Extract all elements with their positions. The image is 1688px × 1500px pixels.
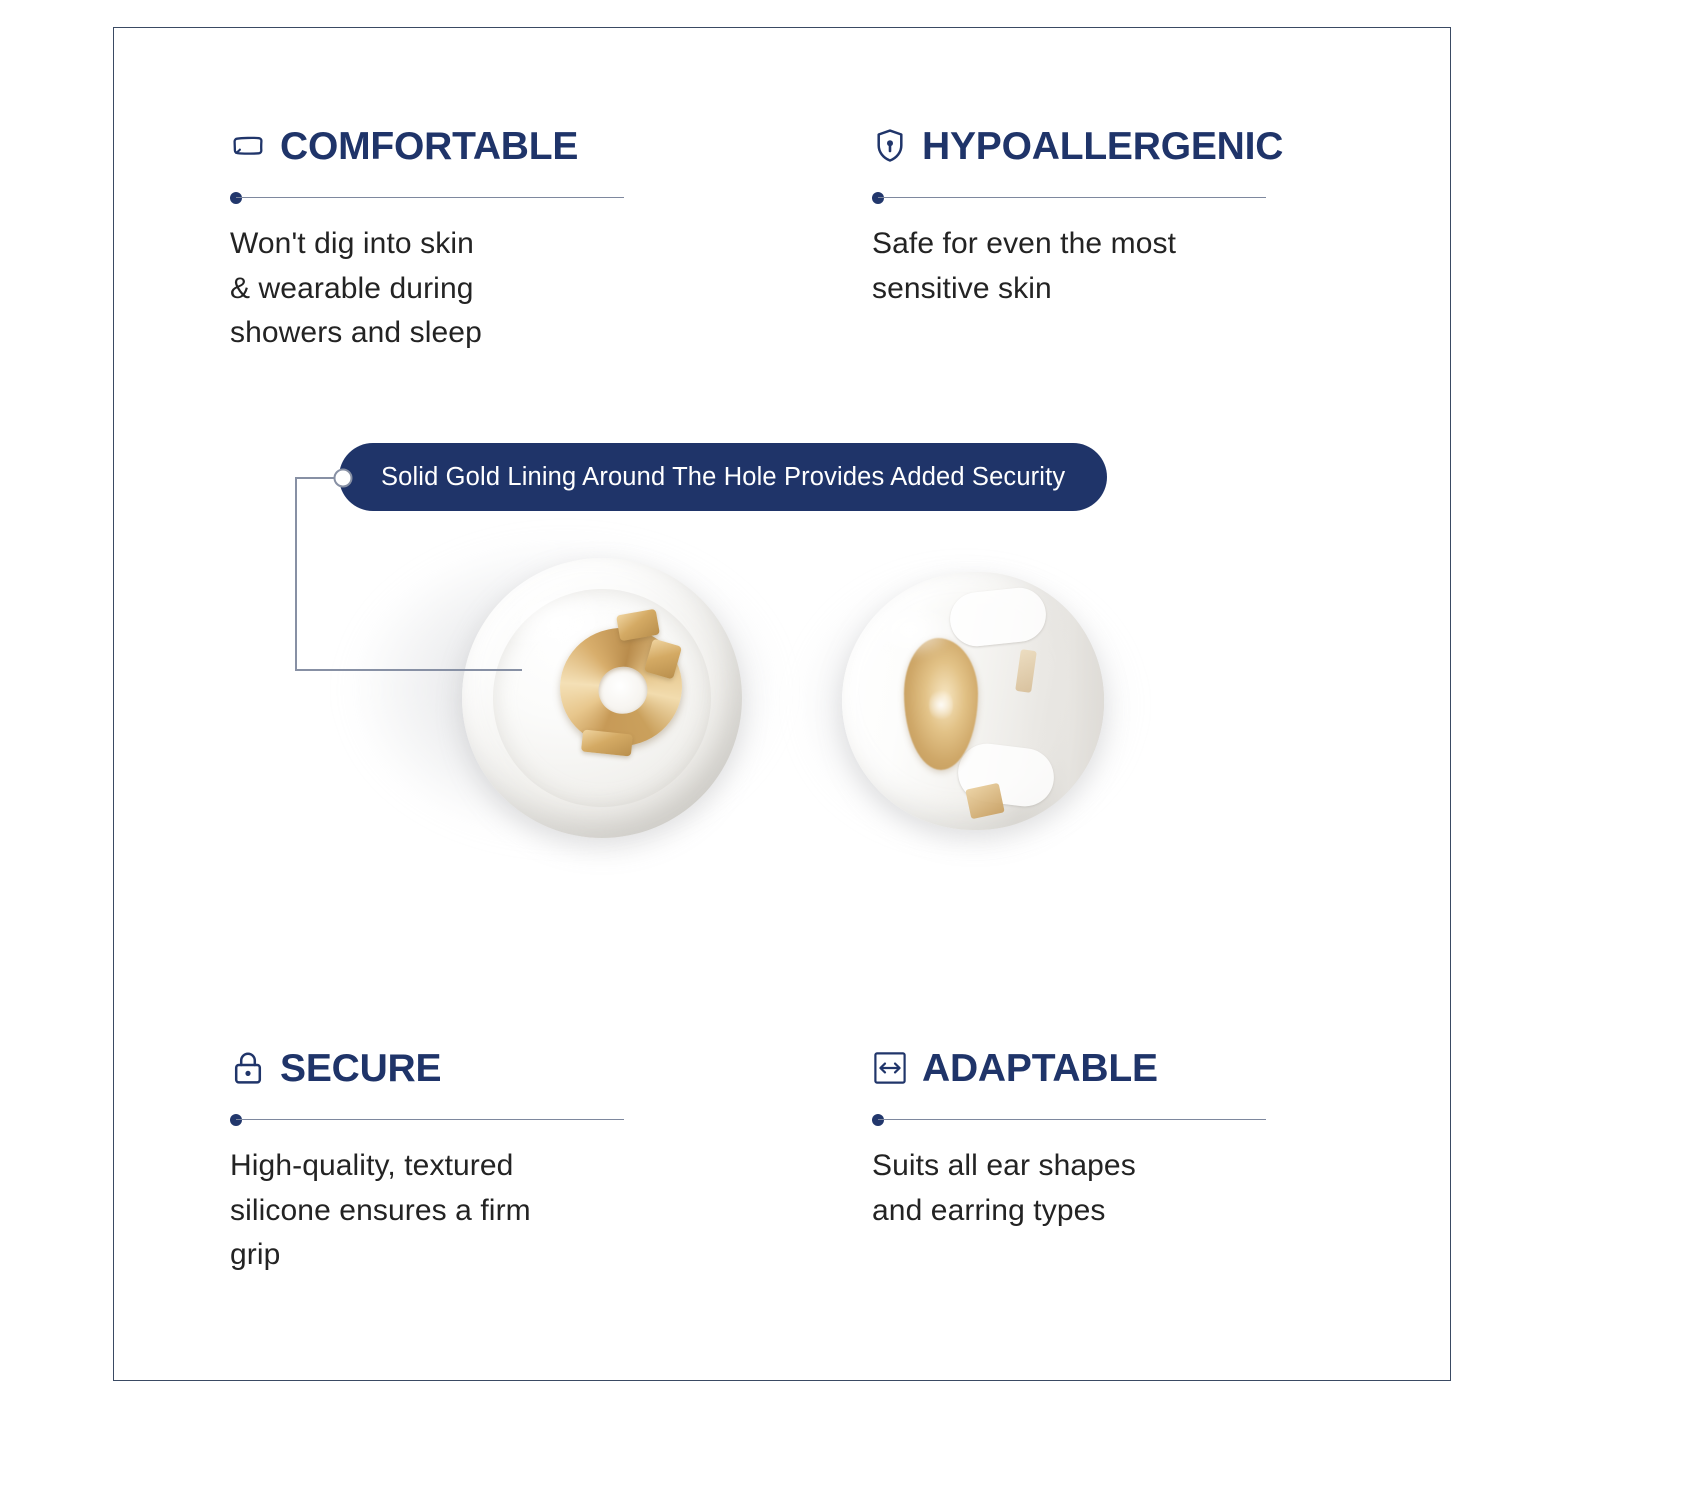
feature-divider xyxy=(872,192,1266,204)
divider-dot xyxy=(872,1114,884,1126)
feature-header: SECURE xyxy=(230,1042,630,1094)
description-line: & wearable during xyxy=(230,267,630,312)
feature-title: ADAPTABLE xyxy=(922,1049,1158,1088)
callout-badge: Solid Gold Lining Around The Hole Provid… xyxy=(339,443,1107,511)
pillow-icon xyxy=(230,128,266,164)
feature-divider xyxy=(230,1114,624,1126)
feature-adaptable: ADAPTABLE Suits all ear shapes and earri… xyxy=(872,1042,1272,1233)
description-line: silicone ensures a firm xyxy=(230,1189,630,1234)
divider-dot xyxy=(230,1114,242,1126)
feature-hypoallergenic: HYPOALLERGENIC Safe for even the most se… xyxy=(872,120,1272,311)
padlock-icon xyxy=(230,1050,266,1086)
shield-keyhole-icon xyxy=(872,128,908,164)
description-line: High-quality, textured xyxy=(230,1144,630,1189)
divider-dot xyxy=(230,192,242,204)
divider-dot xyxy=(872,192,884,204)
feature-header: COMFORTABLE xyxy=(230,120,630,172)
feature-comfortable: COMFORTABLE Won't dig into skin & wearab… xyxy=(230,120,630,356)
feature-header: ADAPTABLE xyxy=(872,1042,1272,1094)
feature-title: HYPOALLERGENIC xyxy=(922,127,1283,166)
description-line: Safe for even the most xyxy=(872,222,1272,267)
description-line: sensitive skin xyxy=(872,267,1272,312)
feature-description: High-quality, textured silicone ensures … xyxy=(230,1144,630,1278)
divider-line xyxy=(236,1119,624,1120)
feature-description: Safe for even the most sensitive skin xyxy=(872,222,1272,311)
highlight xyxy=(868,602,954,658)
infographic-page: COMFORTABLE Won't dig into skin & wearab… xyxy=(0,0,1688,1500)
feature-description: Suits all ear shapes and earring types xyxy=(872,1144,1272,1233)
feature-divider xyxy=(230,192,624,204)
feature-divider xyxy=(872,1114,1266,1126)
divider-line xyxy=(236,197,624,198)
callout-text: Solid Gold Lining Around The Hole Provid… xyxy=(381,463,1065,492)
description-line: Won't dig into skin xyxy=(230,222,630,267)
feature-title: SECURE xyxy=(280,1049,441,1088)
description-line: and earring types xyxy=(872,1189,1272,1234)
resize-horizontal-icon xyxy=(872,1050,908,1086)
product-image xyxy=(330,500,1230,920)
divider-line xyxy=(878,1119,1266,1120)
description-line: grip xyxy=(230,1233,630,1278)
description-line: showers and sleep xyxy=(230,311,630,356)
feature-description: Won't dig into skin & wearable during sh… xyxy=(230,222,630,356)
divider-line xyxy=(878,197,1266,198)
feature-header: HYPOALLERGENIC xyxy=(872,120,1272,172)
gold-detail xyxy=(965,783,1004,819)
earring-back-side-view xyxy=(842,572,1104,830)
feature-title: COMFORTABLE xyxy=(280,127,578,166)
description-line: Suits all ear shapes xyxy=(872,1144,1272,1189)
feature-secure: SECURE High-quality, textured silicone e… xyxy=(230,1042,630,1278)
